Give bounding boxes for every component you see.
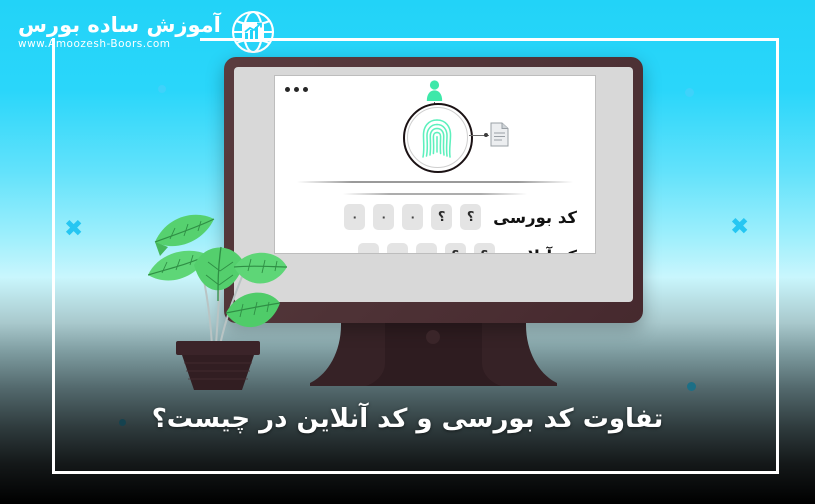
brand-logo[interactable]: آموزش ساده بورس www.Amoozesh-Boors.com [18,8,277,56]
decor-x-mark-2: ✖ [730,216,749,239]
divider-line-2 [343,193,527,195]
plant-leaf [155,215,214,246]
code-box[interactable]: · [387,243,408,254]
code-box[interactable]: ؟ [445,243,466,254]
window-dot-2 [294,87,299,92]
code-box[interactable]: ؟ [460,204,481,230]
decor-x-mark-1: ✖ [64,218,83,241]
code-box[interactable]: · [402,204,423,230]
code-row-label: کد بورسی [493,208,577,227]
potted-plant-icon [148,205,288,390]
frame-border-bottom [52,471,779,474]
decor-dot-2 [685,88,694,97]
decor-dot-1 [158,85,166,93]
fingerprint-icon [420,114,454,160]
plant-pot-rim [176,341,260,355]
code-row-label: کد آنلاین [507,247,577,255]
window-controls-dots[interactable] [285,87,308,92]
connector-dot-document [484,133,488,137]
code-row-boursi: کد بورسی ؟ ؟ · · · [344,204,577,230]
globe-chart-icon [229,8,277,56]
plant-pot [182,355,254,390]
window-dot-3 [285,87,290,92]
window-dot-1 [303,87,308,92]
code-box[interactable]: ؟ [431,204,452,230]
code-box[interactable]: · [344,204,365,230]
code-box[interactable]: · [358,243,379,254]
code-box[interactable]: · [416,243,437,254]
divider-line-1 [297,181,573,183]
poster-canvas: آموزش ساده بورس www.Amoozesh-Boors.com ✖… [0,0,815,504]
brand-website: www.Amoozesh-Boors.com [18,39,171,50]
monitor-power-button[interactable] [426,330,440,344]
person-icon [426,80,443,102]
decor-dot-3 [687,382,696,391]
document-icon [490,122,509,147]
code-box[interactable]: ؟ [474,243,495,254]
identity-illustration [370,80,500,175]
page-title: تفاوت کد بورسی و کد آنلاین در چیست؟ [0,404,815,434]
brand-name: آموزش ساده بورس [18,15,221,36]
monitor-screen: کد بورسی ؟ ؟ · · · کد آنلاین ؟ ؟ · · · [274,75,596,254]
code-box[interactable]: · [373,204,394,230]
code-row-online: کد آنلاین ؟ ؟ · · · [358,243,577,254]
frame-border-top [200,38,779,41]
